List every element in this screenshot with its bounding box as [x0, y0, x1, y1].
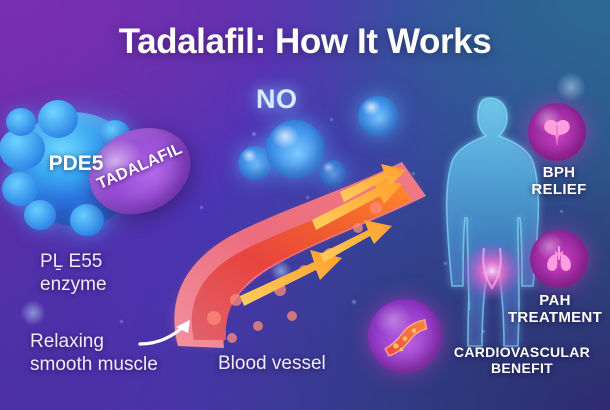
- pde5-enzyme-caption: PḺ E55 enzyme: [40, 250, 180, 296]
- no-label: NO: [256, 84, 298, 115]
- ambient-glow: [20, 300, 46, 326]
- blood-vessel-icon: [378, 309, 432, 363]
- badge-bph-line1: BPH: [520, 164, 598, 181]
- ambient-glow: [556, 72, 586, 102]
- pde5-caption-line1: PḺ E55: [40, 250, 180, 273]
- badge-pah-line1: PAH: [500, 292, 610, 309]
- no-molecule: [358, 96, 398, 136]
- badge-cardio-line2: BENEFIT: [436, 360, 608, 376]
- relax-caption-line2: smooth muscle: [30, 353, 200, 376]
- ambient-speck: [330, 118, 333, 121]
- badge-pah-treatment[interactable]: [530, 230, 588, 288]
- blood-vessel-caption: Blood vessel: [218, 352, 326, 375]
- badge-pah-label: PAH TREATMENT: [500, 292, 610, 327]
- badge-pah-line2: TREATMENT: [500, 309, 610, 326]
- badge-cardiovascular-benefit[interactable]: [368, 299, 442, 373]
- ambient-speck: [252, 132, 256, 136]
- badge-bph-relief[interactable]: [528, 103, 586, 161]
- ambient-speck: [120, 320, 123, 323]
- prostate-icon: [540, 115, 574, 149]
- infographic-canvas: Tadalafil: How It Works NO: [0, 0, 610, 410]
- badge-cardiovascular-label: CARDIOVASCULAR BENEFIT: [436, 344, 608, 376]
- curved-arrow-icon: [138, 318, 198, 352]
- badge-bph-label: BPH RELIEF: [520, 164, 598, 199]
- badge-cardio-line1: CARDIOVASCULAR: [436, 344, 608, 360]
- lungs-icon: [542, 242, 576, 276]
- badge-bph-line2: RELIEF: [520, 181, 598, 198]
- ambient-speck: [560, 210, 563, 213]
- pde5-caption-line2: enzyme: [40, 273, 180, 296]
- page-title: Tadalafil: How It Works: [0, 22, 610, 62]
